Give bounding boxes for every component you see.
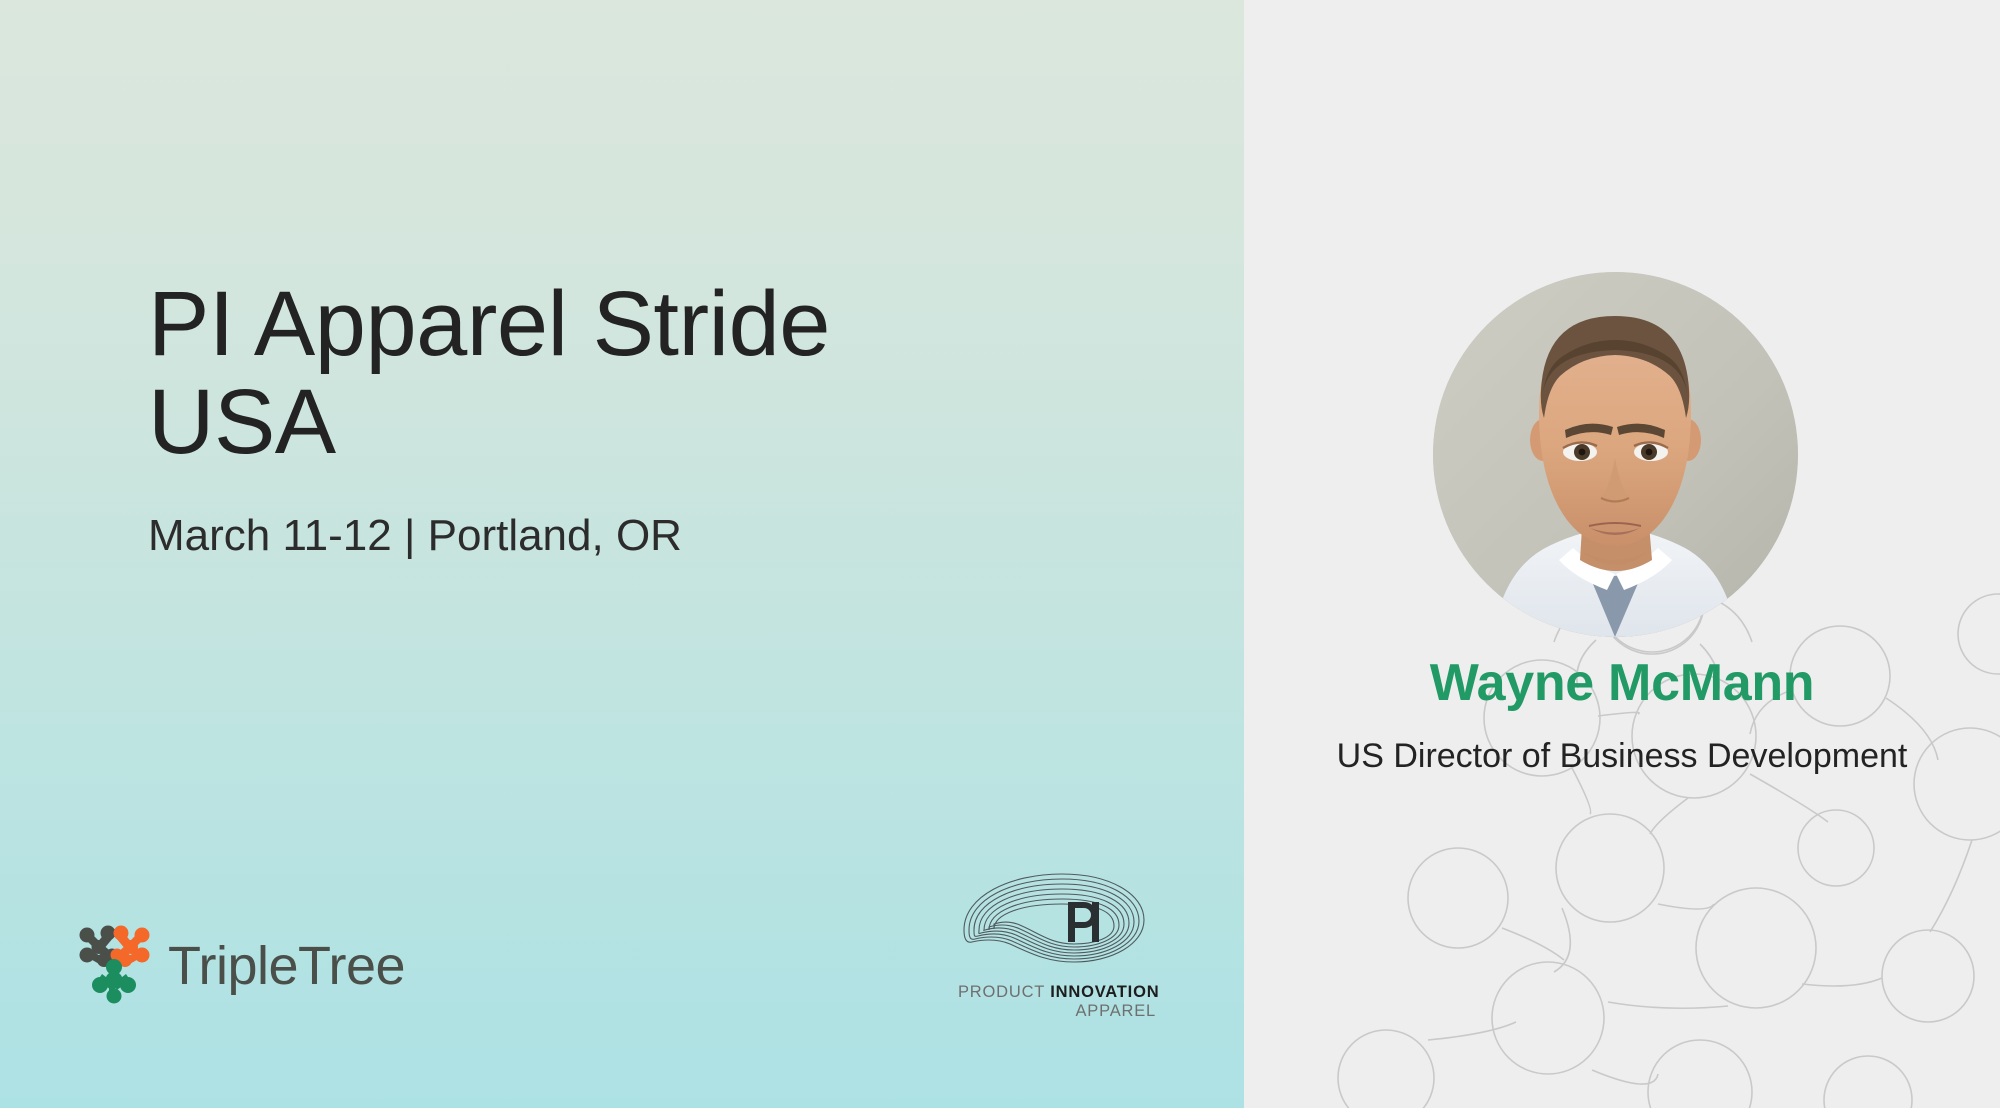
speaker-role: US Director of Business Development bbox=[1322, 737, 1922, 776]
speaker-announcement-slide: PI Apparel Stride USA March 11-12 | Port… bbox=[0, 0, 2000, 1108]
pi-caption-innovation: INNOVATION bbox=[1050, 983, 1159, 1001]
tripletree-molecule-icon bbox=[76, 922, 154, 1009]
tripletree-wordmark: TripleTree bbox=[168, 939, 405, 993]
pi-apparel-swoosh-icon bbox=[958, 868, 1158, 981]
speaker-panel: Wayne McMann US Director of Business Dev… bbox=[1244, 0, 2000, 1108]
pi-caption-product: PRODUCT bbox=[958, 983, 1050, 1001]
event-text-block: PI Apparel Stride USA March 11-12 | Port… bbox=[148, 276, 1008, 561]
avatar bbox=[1433, 272, 1798, 637]
pi-caption-primary: PRODUCT INNOVATION bbox=[958, 983, 1158, 1002]
speaker-name: Wayne McMann bbox=[1244, 653, 2000, 713]
pi-apparel-logo[interactable]: PRODUCT INNOVATION APPAREL bbox=[958, 868, 1158, 1022]
event-panel: PI Apparel Stride USA March 11-12 | Port… bbox=[0, 0, 1244, 1108]
event-date-location: March 11-12 | Portland, OR bbox=[148, 511, 1008, 561]
pi-caption-apparel: APPAREL bbox=[958, 1002, 1158, 1021]
pi-apparel-caption: PRODUCT INNOVATION APPAREL bbox=[958, 983, 1158, 1022]
page-title: PI Apparel Stride USA bbox=[148, 276, 1008, 471]
tripletree-logo[interactable]: TripleTree bbox=[76, 922, 405, 1009]
